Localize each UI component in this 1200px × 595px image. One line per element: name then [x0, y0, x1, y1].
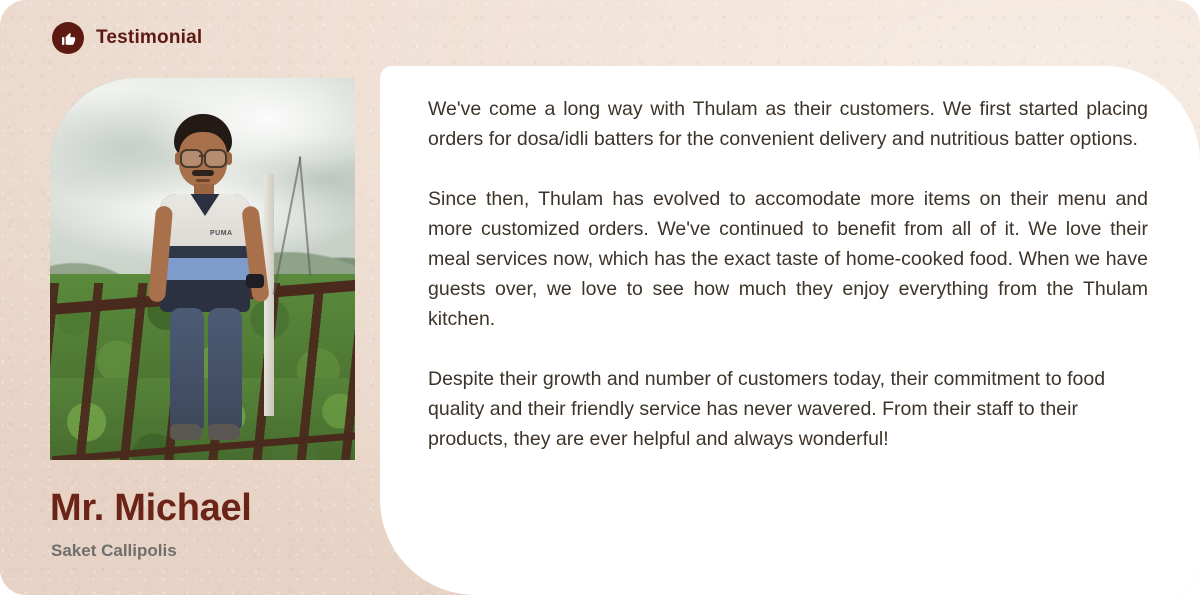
testimonial-paragraph: We've come a long way with Thulam as the… — [428, 94, 1148, 154]
testimonial-text: We've come a long way with Thulam as the… — [428, 94, 1148, 454]
thumbs-up-icon — [52, 22, 84, 54]
author-name: Mr. Michael — [50, 487, 252, 530]
author-photo: PUMA — [50, 78, 355, 460]
photo-vignette — [50, 78, 355, 460]
author-location: Saket Callipolis — [51, 541, 177, 561]
testimonial-paragraph: Since then, Thulam has evolved to accomo… — [428, 184, 1148, 334]
header-title: Testimonial — [96, 27, 202, 49]
testimonial-quote-panel: We've come a long way with Thulam as the… — [380, 66, 1200, 595]
testimonial-paragraph: Despite their growth and number of custo… — [428, 364, 1148, 454]
testimonial-card: Testimonial — [0, 0, 1200, 595]
testimonial-header: Testimonial — [52, 22, 202, 54]
